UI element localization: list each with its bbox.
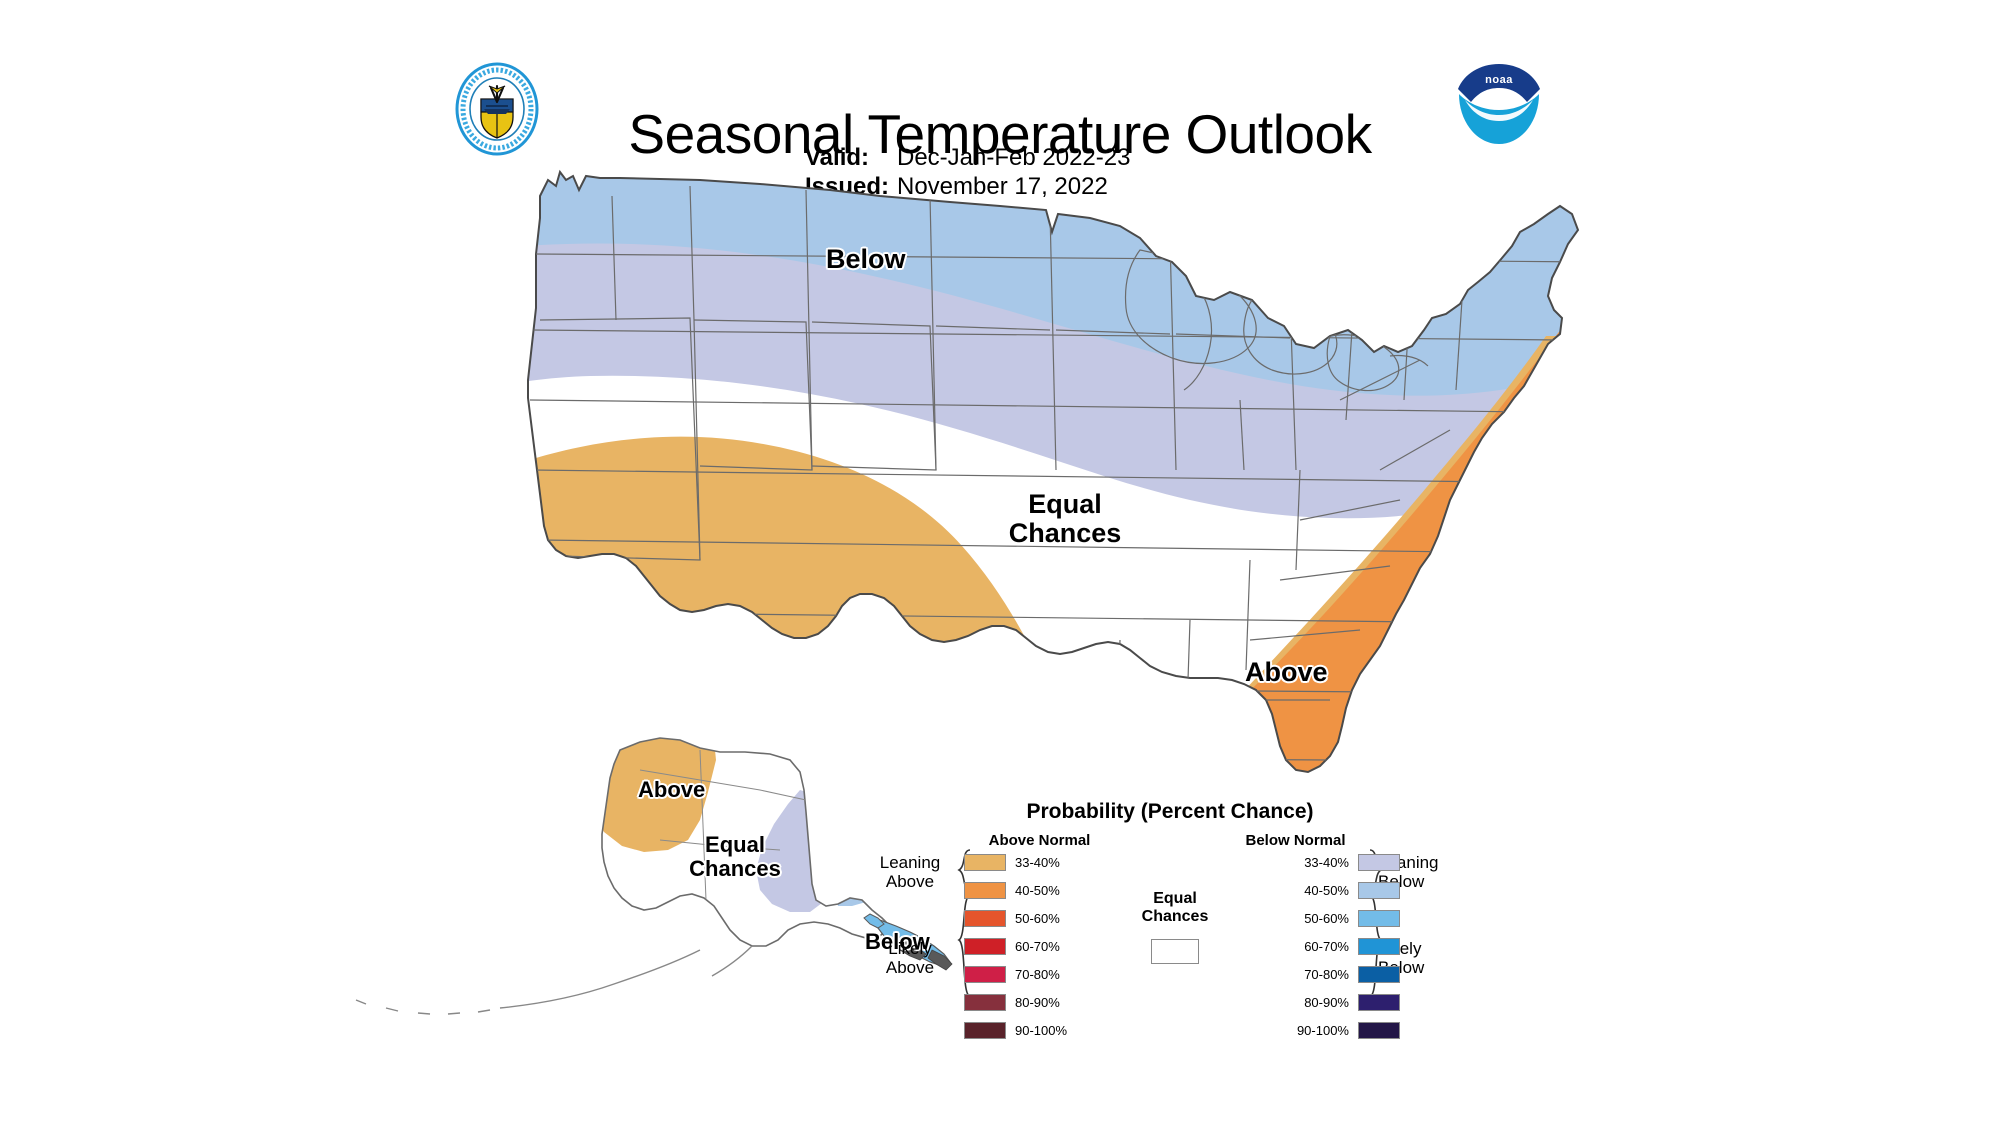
legend-label-above-0: 33-40%: [1015, 854, 1060, 871]
legend-likely-above-label: Likely Above: [860, 940, 960, 977]
legend-row-above-33-40: 33-40%: [964, 852, 1179, 873]
legend-label-below-2: 50-60%: [1304, 910, 1349, 927]
legend-swatch-above-0: [964, 854, 1006, 871]
legend-leaning-above-label: Leaning Above: [860, 854, 960, 891]
legend-label-below-4: 70-80%: [1304, 966, 1349, 983]
leaning-above-line2: Above: [886, 872, 934, 891]
legend-swatch-above-6: [964, 1022, 1006, 1039]
legend-row-below-5: 80-90%: [1185, 992, 1400, 1013]
legend-swatch-below-4: [1358, 966, 1400, 983]
legend-swatch-below-5: [1358, 994, 1400, 1011]
legend-swatch-below-2: [1358, 910, 1400, 927]
legend-label-above-2: 50-60%: [1015, 910, 1060, 927]
legend-label-above-4: 70-80%: [1015, 966, 1060, 983]
legend-swatch-below-6: [1358, 1022, 1400, 1039]
legend-below-normal-header: Below Normal: [1208, 832, 1383, 849]
leaning-above-line1: Leaning: [880, 853, 941, 872]
legend-row-above-90-100: 90-100%: [964, 1020, 1179, 1041]
legend-swatch-below-3: [1358, 938, 1400, 955]
legend-label-below-5: 80-90%: [1304, 994, 1349, 1011]
legend-row-below-0: 33-40%: [1185, 852, 1400, 873]
legend-swatch-above-4: [964, 966, 1006, 983]
legend-label-above-6: 90-100%: [1015, 1022, 1067, 1039]
legend-equal-chances-block: Equal Chances: [1130, 890, 1220, 964]
map-label-equal-line1: Equal: [1028, 489, 1102, 519]
probability-legend: Probability (Percent Chance) Above Norma…: [930, 800, 1410, 1060]
legend-title: Probability (Percent Chance): [930, 800, 1410, 824]
alaska-label-equal-line2: Chances: [689, 856, 781, 881]
legend-label-above-1: 40-50%: [1015, 882, 1060, 899]
legend-label-above-3: 60-70%: [1015, 938, 1060, 955]
legend-label-above-5: 80-90%: [1015, 994, 1060, 1011]
legend-row-below-4: 70-80%: [1185, 964, 1400, 985]
likely-above-line1: Likely: [888, 939, 931, 958]
legend-swatch-below-0: [1358, 854, 1400, 871]
legend-label-below-1: 40-50%: [1304, 882, 1349, 899]
legend-equal-line2: Chances: [1130, 908, 1220, 926]
map-label-equal-line2: Chances: [1009, 518, 1122, 548]
legend-swatch-above-3: [964, 938, 1006, 955]
legend-row-above-70-80: 70-80%: [964, 964, 1179, 985]
legend-swatch-above-2: [964, 910, 1006, 927]
legend-label-below-3: 60-70%: [1304, 938, 1349, 955]
alaska-label-equal-line1: Equal: [705, 832, 765, 857]
legend-label-below-0: 33-40%: [1304, 854, 1349, 871]
aleutian-islands: [356, 946, 752, 1014]
legend-swatch-above-5: [964, 994, 1006, 1011]
legend-swatch-below-1: [1358, 882, 1400, 899]
legend-row-below-6: 90-100%: [1185, 1020, 1400, 1041]
legend-equal-line1: Equal: [1130, 890, 1220, 908]
legend-equal-chances-swatch: [1151, 939, 1199, 964]
legend-above-normal-header: Above Normal: [952, 832, 1127, 849]
map-label-below: Below: [826, 245, 906, 274]
legend-swatch-above-1: [964, 882, 1006, 899]
legend-label-below-6: 90-100%: [1297, 1022, 1349, 1039]
alaska-label-equal-chances: Equal Chances: [675, 833, 795, 881]
alaska-label-above: Above: [638, 778, 705, 802]
legend-row-above-80-90: 80-90%: [964, 992, 1179, 1013]
map-label-equal-chances: Equal Chances: [1000, 490, 1130, 548]
likely-above-line2: Above: [886, 958, 934, 977]
map-label-above: Above: [1245, 658, 1328, 687]
seasonal-temperature-outlook-page: Seasonal Temperature Outlook Valid:Dec-J…: [0, 0, 2000, 1126]
